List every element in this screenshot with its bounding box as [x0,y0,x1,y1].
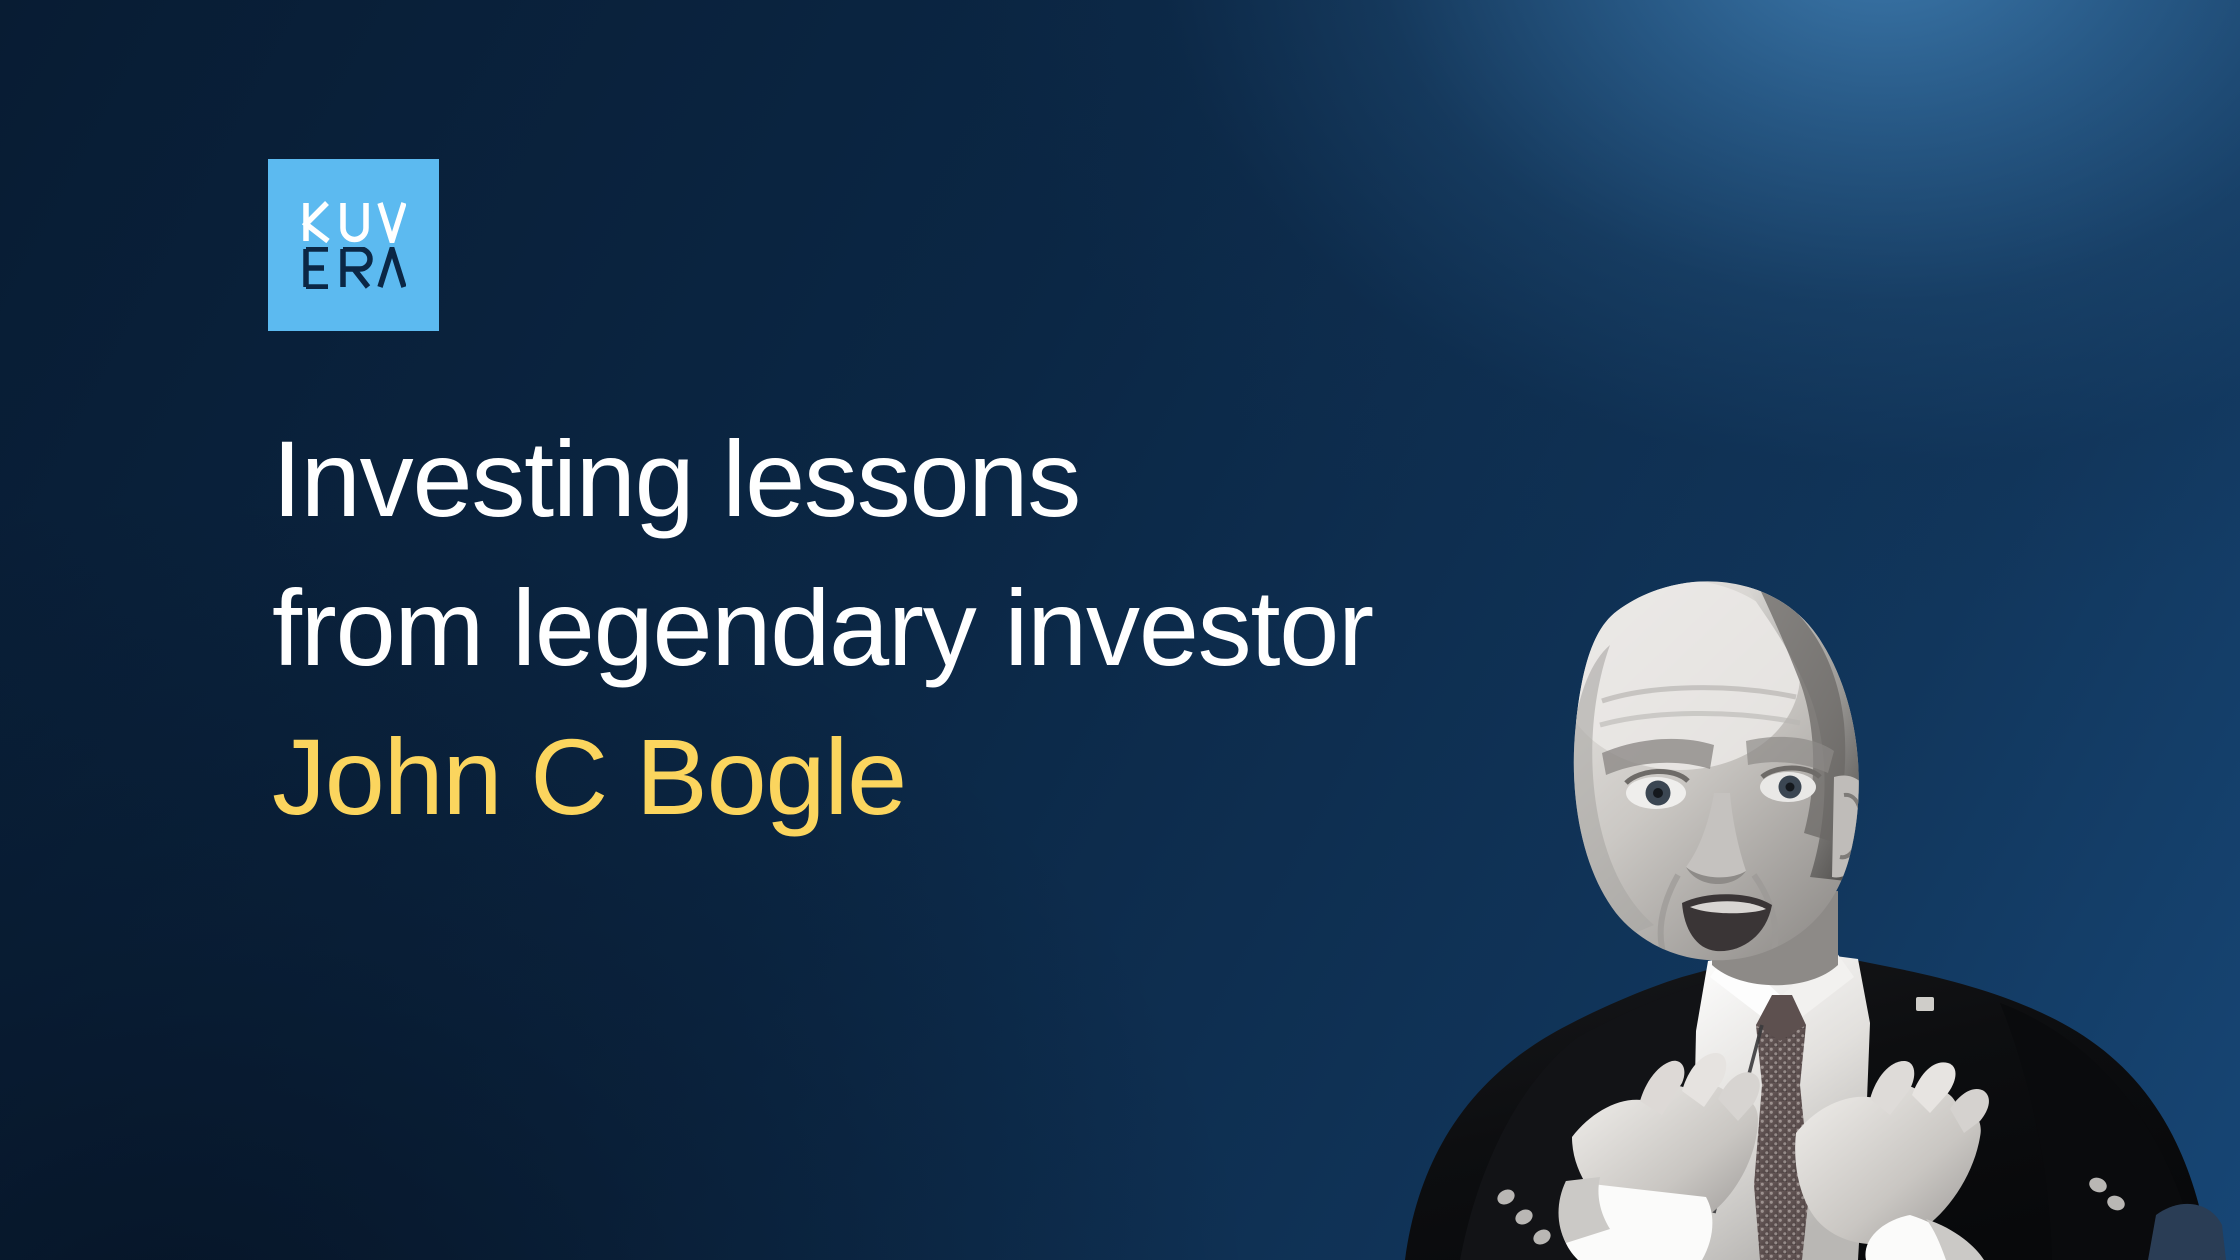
headline: Investing lessons from legendary investo… [272,404,1672,851]
headline-line-3-subject-name: John C Bogle [272,702,1672,851]
headline-line-1: Investing lessons [272,404,1672,553]
logo-bottom-era [302,247,406,289]
promo-card: Investing lessons from legendary investo… [0,0,2240,1260]
kuvera-logo[interactable] [268,159,439,331]
logo-top-kuv [302,201,406,243]
headline-line-2: from legendary investor [272,553,1672,702]
